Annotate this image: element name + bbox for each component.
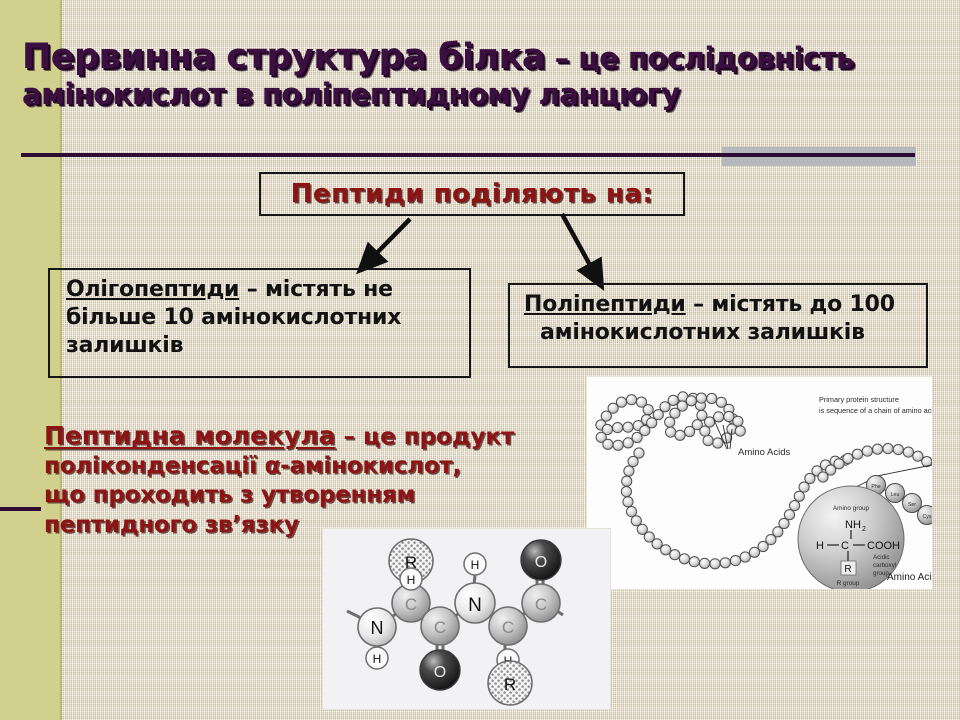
header-divider-rule	[21, 153, 915, 157]
inset-amino-group-label: Amino group	[833, 505, 870, 512]
atom-c-1: C	[405, 595, 417, 614]
oligopeptides-term: Олігопептиди	[66, 277, 239, 302]
peptide-molecule-text: Пептидна молекула – це продукт поліконде…	[44, 420, 564, 540]
polypeptides-line-1-rest: – містять до 100	[686, 292, 895, 317]
atom-c-2: C	[434, 618, 446, 637]
atom-h-3: H	[471, 558, 480, 572]
inset-acidic-line-2: carboxyl	[873, 562, 896, 569]
title-second-line: амінокислот в поліпептидному ланцюгу	[22, 80, 937, 110]
atom-c-4: C	[535, 595, 547, 614]
arrow-to-polypeptides	[562, 214, 596, 276]
oligopeptides-line-3: залишків	[66, 332, 469, 360]
atom-o-2: O	[535, 554, 547, 571]
atom-n-1: N	[371, 618, 384, 638]
molecule-atoms: N H C R H C O N H C H	[358, 539, 561, 705]
left-edge-rule	[0, 507, 41, 511]
inset-formula-cooh: COOH	[867, 540, 900, 552]
page-title: Первинна структура білка – це послідовні…	[22, 40, 937, 109]
polypeptides-term: Поліпептиди	[524, 292, 686, 317]
protein-structure-svg: Amino Acids Primary protein structure is…	[587, 377, 932, 589]
inset-r: R	[844, 564, 851, 575]
amino-acids-label: Amino Acids	[738, 447, 791, 458]
oligopeptides-line-1-rest: – містять не	[239, 277, 393, 302]
peptide-molecule-line-2: поліконденсації α-амінокислот,	[44, 452, 564, 481]
peptide-bond-svg: N H C R H C O N H C H	[323, 529, 610, 709]
protein-structure-figure: Amino Acids Primary protein structure is…	[586, 376, 933, 590]
peptide-molecule-line-1: Пептидна молекула – це продукт	[44, 420, 564, 452]
oligopeptides-line-2: більше 10 амінокислотних	[66, 304, 469, 332]
slide-canvas: Первинна структура білка – це послідовні…	[0, 0, 960, 720]
amino-acid-label: Amino Acid	[887, 572, 932, 583]
oligopeptides-line-1: Олігопептиди – містять не	[66, 276, 469, 304]
peptide-bond-figure: N H C R H C O N H C H	[322, 528, 611, 710]
protein-caption-line-2: is sequence of a chain of amino acids	[819, 406, 932, 415]
title-main-rest: – це послідовність	[545, 41, 854, 75]
polypeptides-line-1: Поліпептиди – містять до 100	[524, 291, 926, 319]
inset-nh2: NH	[845, 519, 861, 531]
inset-nh2-subscript: 2	[862, 526, 866, 533]
polypeptides-line-2: амінокислотних залишків	[524, 319, 926, 347]
inset-acidic-line-1: Acidic	[873, 554, 890, 561]
peptides-heading-box: Пептиди поділяють на:	[259, 172, 685, 216]
atom-n-2: N	[468, 595, 482, 616]
atom-o-1: O	[434, 664, 446, 681]
protein-caption-line-1: Primary protein structure	[819, 395, 899, 404]
arrow-to-oligopeptides	[368, 219, 410, 262]
residue-label-3: Cys	[923, 514, 932, 520]
residue-label-1: Leu	[891, 492, 900, 498]
residue-label-0: Phe	[871, 484, 880, 490]
atom-h-1: H	[373, 652, 382, 666]
inset-formula-c: C	[841, 540, 849, 552]
peptide-molecule-line-3: що проходить з утворенням	[44, 481, 564, 510]
peptides-heading-label: Пептиди поділяють на:	[291, 179, 654, 209]
atom-h-2: H	[407, 573, 416, 587]
atom-r-2: R	[504, 675, 516, 694]
peptide-molecule-line-1-rest: – це продукт	[336, 424, 515, 450]
residue-label-2: Ser	[908, 502, 916, 508]
oligopeptides-box: Олігопептиди – містять не більше 10 амін…	[48, 268, 471, 378]
inset-formula-h: H	[816, 540, 824, 552]
atom-c-3: C	[502, 618, 514, 637]
polypeptides-box: Поліпептиди – містять до 100 амінокислот…	[508, 283, 928, 368]
inset-r-group-label: R group	[837, 580, 860, 587]
peptide-molecule-term: Пептидна молекула	[44, 421, 336, 450]
title-main-term: Первинна структура білка	[22, 37, 545, 77]
